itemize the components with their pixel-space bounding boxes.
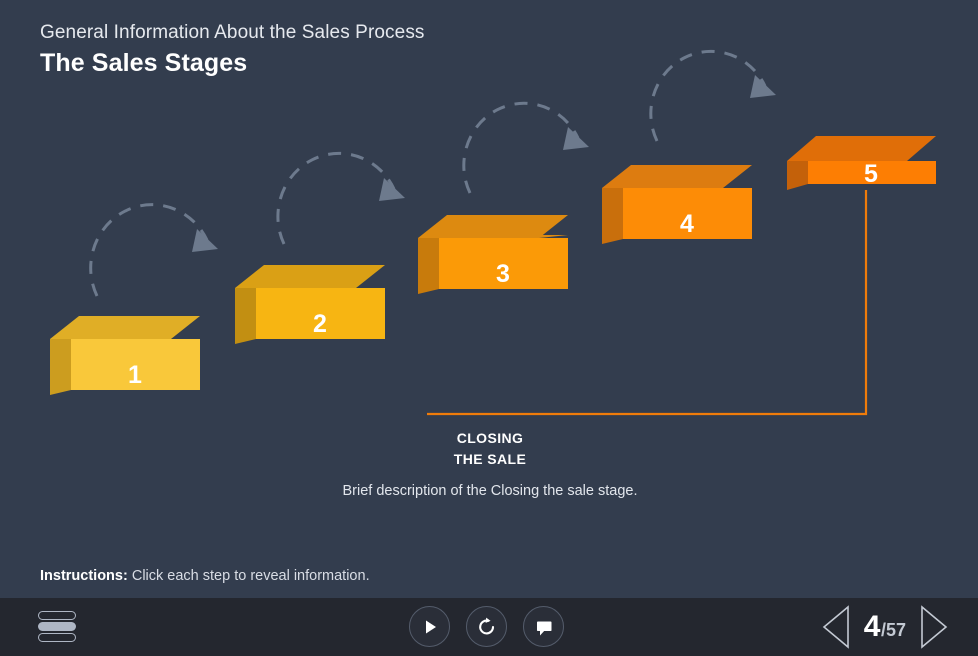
arrow-arc-1-to-2 bbox=[91, 205, 207, 296]
instructions-line: Instructions: Click each step to reveal … bbox=[40, 566, 370, 586]
stage-block-4-number: 4 bbox=[680, 210, 694, 238]
speech-bubble-icon bbox=[533, 616, 555, 638]
instructions-text: Click each step to reveal information. bbox=[132, 568, 370, 584]
arrow-arc-3-to-4 bbox=[464, 103, 578, 193]
stage-block-4-side bbox=[602, 188, 623, 244]
stage-block-2[interactable]: 2 bbox=[235, 265, 385, 344]
arrowhead-2 bbox=[379, 178, 405, 201]
notes-button[interactable] bbox=[523, 606, 564, 647]
menu-bar-top bbox=[38, 611, 76, 620]
stage-block-3-top-b bbox=[418, 215, 568, 238]
stage-detail-title: CLOSING THE SALE bbox=[330, 428, 650, 470]
instructions-label: Instructions: bbox=[40, 568, 128, 584]
stage-block-1-side bbox=[50, 339, 71, 395]
replay-button[interactable] bbox=[466, 606, 507, 647]
arrowhead-1 bbox=[192, 229, 218, 252]
stage-block-1-top bbox=[50, 316, 200, 339]
replay-icon bbox=[476, 616, 498, 638]
previous-arrow-icon[interactable] bbox=[820, 604, 854, 650]
stage-block-4[interactable]: 4 bbox=[602, 165, 752, 244]
stage-detail-title-line1: CLOSING bbox=[330, 428, 650, 449]
stage-block-5[interactable]: 5 bbox=[787, 136, 936, 190]
sales-stages-diagram: 1 2 3 4 5 bbox=[0, 0, 978, 600]
page-counter: 4 /57 bbox=[864, 612, 906, 642]
menu-bar-bottom bbox=[38, 633, 76, 642]
stage-detail-callout: CLOSING THE SALE Brief description of th… bbox=[330, 428, 650, 501]
stage-block-2-side bbox=[235, 288, 256, 344]
page-total: /57 bbox=[881, 621, 906, 639]
stage-block-5-top bbox=[787, 136, 936, 161]
menu-bar-middle bbox=[38, 622, 76, 631]
arrowhead-4 bbox=[750, 75, 776, 98]
stage-block-5-number: 5 bbox=[864, 160, 878, 188]
hamburger-menu-icon[interactable] bbox=[38, 609, 78, 645]
arrowhead-3 bbox=[563, 127, 589, 150]
stage-block-1[interactable]: 1 bbox=[50, 316, 200, 395]
player-toolbar: 4 /57 bbox=[0, 598, 978, 656]
play-icon bbox=[420, 617, 440, 637]
arrow-arc-4-to-5 bbox=[651, 51, 765, 141]
stage-block-4-top bbox=[602, 165, 752, 188]
stage-block-3-number: 3 bbox=[496, 260, 510, 288]
stage-block-3[interactable]: 3 bbox=[418, 215, 568, 294]
stage-block-2-top bbox=[235, 265, 385, 288]
page-navigation: 4 /57 bbox=[820, 604, 950, 650]
page-current: 4 bbox=[864, 612, 880, 642]
stage-detail-title-line2: THE SALE bbox=[330, 449, 650, 470]
stage-block-2-number: 2 bbox=[313, 310, 327, 338]
play-button[interactable] bbox=[409, 606, 450, 647]
stage-block-3-side bbox=[418, 238, 439, 294]
media-controls bbox=[409, 606, 564, 647]
stage-block-1-number: 1 bbox=[128, 361, 142, 389]
next-arrow-icon[interactable] bbox=[916, 604, 950, 650]
arrow-arc-2-to-3 bbox=[278, 153, 394, 244]
stage-block-5-side bbox=[787, 161, 808, 190]
stage-detail-description: Brief description of the Closing the sal… bbox=[330, 481, 650, 501]
